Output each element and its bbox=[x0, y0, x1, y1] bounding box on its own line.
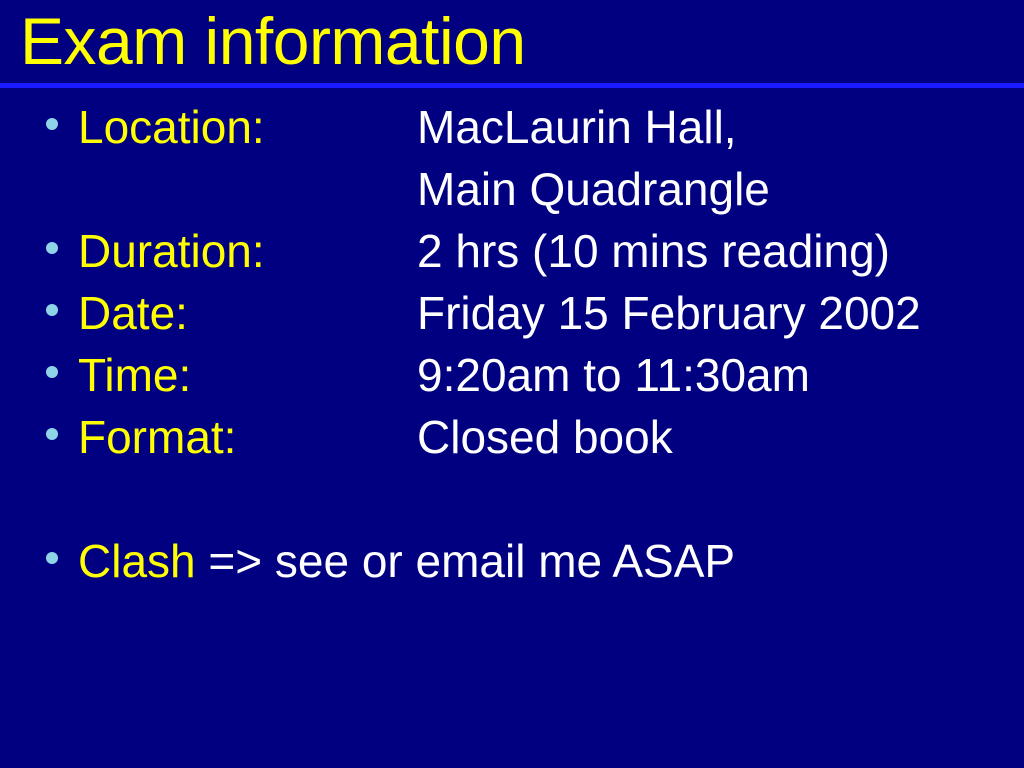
list-item-value: MacLaurin Hall, bbox=[417, 96, 737, 158]
list-item-label: Format: bbox=[78, 406, 236, 468]
list-item: Format: Closed book bbox=[0, 406, 1024, 468]
list-item-value: Main Quadrangle bbox=[417, 158, 770, 220]
list-item-label: Date: bbox=[78, 282, 188, 344]
bullet-icon bbox=[46, 366, 58, 378]
list-item: Location: MacLaurin Hall, bbox=[0, 96, 1024, 158]
list-item-value: 9:20am to 11:30am bbox=[417, 344, 810, 406]
bullet-icon bbox=[46, 428, 58, 440]
list-item-label: Location: bbox=[78, 96, 265, 158]
slide-canvas: Exam information Location: MacLaurin Hal… bbox=[0, 0, 1024, 768]
bullet-list: Location: MacLaurin Hall, Main Quadrangl… bbox=[0, 96, 1024, 592]
closing-plain: => see or email me ASAP bbox=[196, 535, 736, 587]
bullet-icon bbox=[46, 552, 58, 564]
list-spacer bbox=[0, 468, 1024, 530]
list-item-value: Friday 15 February 2002 bbox=[417, 282, 921, 344]
title-block: Exam information bbox=[0, 0, 1024, 88]
list-item-label: Time: bbox=[78, 344, 191, 406]
bullet-icon bbox=[46, 304, 58, 316]
bullet-icon bbox=[46, 118, 58, 130]
closing-accent: Clash bbox=[78, 535, 196, 587]
list-item-value: Closed book bbox=[417, 406, 673, 468]
closing-line: Clash => see or email me ASAP bbox=[78, 530, 735, 592]
list-item-continuation: Main Quadrangle bbox=[0, 158, 1024, 220]
list-item-label: Duration: bbox=[78, 220, 265, 282]
page-title: Exam information bbox=[20, 0, 526, 83]
list-item: Time: 9:20am to 11:30am bbox=[0, 344, 1024, 406]
bullet-icon bbox=[46, 242, 58, 254]
list-item-closing: Clash => see or email me ASAP bbox=[0, 530, 1024, 592]
list-item: Duration: 2 hrs (10 mins reading) bbox=[0, 220, 1024, 282]
title-divider bbox=[0, 83, 1024, 88]
list-item-value: 2 hrs (10 mins reading) bbox=[417, 220, 890, 282]
list-item: Date: Friday 15 February 2002 bbox=[0, 282, 1024, 344]
